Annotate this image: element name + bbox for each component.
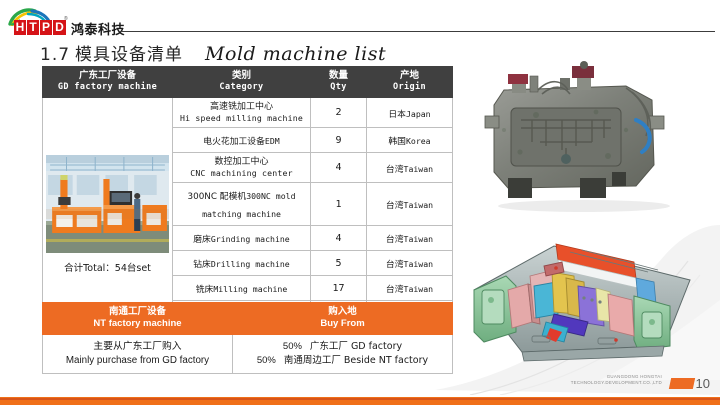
origin-cn: 台湾 [386,201,404,211]
purchase-source-cn: 主要从广东工厂购入 [47,340,228,354]
category-en: Hi speed milling machine [176,113,307,124]
mold-tool-photo [476,60,691,215]
origin-cn: 日本 [388,110,406,120]
category-cell: 磨床Grinding machine [173,226,311,251]
footer-brand-line2: TECHNOLOGY.DEVELOPMENT.CO.,LTD [571,380,662,386]
origin-en: Taiwan [404,259,434,269]
col-header-en: NT factory machine [45,318,230,330]
col-header-en: Origin [369,82,450,93]
col-header-en: Category [175,82,308,93]
origin-cn: 台湾 [386,235,404,245]
table-header-row: 广东工厂设备 GD factory machine 类别 Category 数量… [43,67,453,98]
col-header-en: GD factory machine [45,82,170,93]
origin-cell: 韩国Korea [367,128,453,153]
origin-en: Taiwan [404,200,434,210]
origin-text: 台湾Taiwan [386,235,433,245]
col-header-en: Qty [313,82,364,93]
col-header-cn: 南通工厂设备 [45,306,230,318]
category-cn: 磨床 [193,235,211,245]
origin-text: 台湾Taiwan [386,201,433,211]
origin-cell: 台湾Taiwan [367,276,453,301]
gd-factory-machine-table: 广东工厂设备 GD factory machine 类别 Category 数量… [42,66,453,331]
origin-text: 台湾Taiwan [386,260,433,270]
logo-chinese-name: 鸿泰科技 [71,19,125,38]
buy-from-text: 广东工厂 GD factory [310,341,402,352]
col-header-buy-from: 购入地 Buy From [233,303,453,335]
page-number-text: 10 [696,376,710,391]
col-header-origin: 产地 Origin [367,67,453,98]
trademark-symbol: ® [64,16,68,22]
origin-en: Taiwan [404,234,434,244]
origin-cell: 台湾Taiwan [367,251,453,276]
origin-cell: 台湾Taiwan [367,183,453,226]
logo-letter-h: H [14,20,27,35]
category-en: CNC machining center [176,168,307,179]
title-english: Mold machine list [205,43,386,65]
factory-floor-photo [46,155,169,253]
gd-factory-photo-cell: 合计Total：54台set [43,98,173,331]
total-count-label: 合计Total：54台set [46,260,169,274]
category-text: 电火花加工设备EDM [203,137,279,147]
page-title: 1.7 模具设备清单 Mold machine list [40,40,386,65]
qty-cell: 5 [311,251,367,276]
footer-company-mark: GUANGDONG HONGTAI TECHNOLOGY.DEVELOPMENT… [571,374,662,385]
origin-en: Korea [406,136,431,146]
title-chinese: 模具设备清单 [75,40,183,65]
category-cell: 铣床Milling machine [173,276,311,301]
qty-cell: 17 [311,276,367,301]
footer-accent-stripe [0,398,720,400]
nt-factory-machine-table: 南通工厂设备 NT factory machine 购入地 Buy From 主… [42,302,453,374]
category-text: 铣床Milling machine [196,285,288,295]
origin-en: Japan [406,109,431,119]
logo-letter-p: P [40,20,53,35]
origin-cell: 台湾Taiwan [367,153,453,183]
category-en: Drilling machine [211,259,290,269]
origin-cn: 台湾 [386,285,404,295]
origin-en: Taiwan [404,284,434,294]
category-cell: 电火花加工设备EDM [173,128,311,153]
category-en: Grinding machine [211,234,290,244]
buy-from-line: 50%广东工厂 GD factory [237,340,448,354]
col-header-cn: 类别 [175,70,308,82]
category-cn: 电火花加工设备 [203,137,265,147]
buy-from-cell: 50%广东工厂 GD factory 50%南通周边工厂 Beside NT f… [233,335,453,374]
company-logo: H T P D ® 鸿泰科技 [8,8,133,36]
qty-cell: 1 [311,183,367,226]
col-header-cn: 购入地 [235,306,450,318]
origin-text: 日本Japan [388,110,430,120]
header-divider-line [120,31,715,32]
qty-cell: 4 [311,226,367,251]
col-header-cn: 产地 [369,70,450,82]
origin-cell: 日本Japan [367,98,453,128]
origin-cell: 台湾Taiwan [367,226,453,251]
logo-letter-boxes: H T P D [14,20,66,35]
buy-from-percent: 50% [257,355,276,366]
table-row: 合计Total：54台set高速铣加工中心Hi speed milling ma… [43,98,453,128]
origin-cn: 韩国 [388,137,406,147]
title-number: 1.7 [40,45,70,65]
qty-cell: 4 [311,153,367,183]
logo-letter-t: T [27,20,40,35]
category-text: 磨床Grinding machine [193,235,289,245]
category-en: Milling machine [213,284,287,294]
category-cell: 数控加工中心CNC machining center [173,153,311,183]
category-cn: 数控加工中心 [176,156,307,168]
origin-text: 台湾Taiwan [386,285,433,295]
category-cell: 高速铣加工中心Hi speed milling machine [173,98,311,128]
col-header-cn: 数量 [313,70,364,82]
mold-assembly-cad-render [458,228,706,368]
col-header-cn: 广东工厂设备 [45,70,170,82]
category-cn: 铣床 [196,285,214,295]
purchase-source-en: Mainly purchase from GD factory [47,354,228,368]
col-header-nt-factory-machine: 南通工厂设备 NT factory machine [43,303,233,335]
col-header-category: 类别 Category [173,67,311,98]
category-cn: 高速铣加工中心 [176,101,307,113]
col-header-gd-factory-machine: 广东工厂设备 GD factory machine [43,67,173,98]
origin-en: Taiwan [404,164,434,174]
qty-cell: 2 [311,98,367,128]
origin-text: 台湾Taiwan [386,165,433,175]
buy-from-line: 50%南通周边工厂 Beside NT factory [237,354,448,368]
qty-cell: 9 [311,128,367,153]
origin-text: 韩国Korea [388,137,430,147]
bottom-table-header-row: 南通工厂设备 NT factory machine 购入地 Buy From [43,303,453,335]
page-number: 10 [670,376,710,391]
category-text: 钻床Drilling machine [193,260,289,270]
category-cell: 300NC 配模机300NC mold matching machine [173,183,311,226]
bottom-table-row: 主要从广东工厂购入 Mainly purchase from GD factor… [43,335,453,374]
slide-canvas: H T P D ® 鸿泰科技 1.7 模具设备清单 Mold machine l… [0,0,720,405]
category-cell: 钻床Drilling machine [173,251,311,276]
category-cn: 300NC 配模机 [188,192,247,202]
col-header-qty: 数量 Qty [311,67,367,98]
buy-from-percent: 50% [283,341,302,352]
category-en: EDM [265,136,280,146]
page-number-chip-icon [668,378,694,389]
col-header-en: Buy From [235,318,450,330]
origin-cn: 台湾 [386,260,404,270]
origin-cn: 台湾 [386,165,404,175]
buy-from-text: 南通周边工厂 Beside NT factory [284,355,428,366]
purchase-source-cell: 主要从广东工厂购入 Mainly purchase from GD factor… [43,335,233,374]
logo-letter-d: D [53,20,66,35]
category-cn: 钻床 [193,260,211,270]
category-text: 300NC 配模机300NC mold matching machine [188,192,296,220]
